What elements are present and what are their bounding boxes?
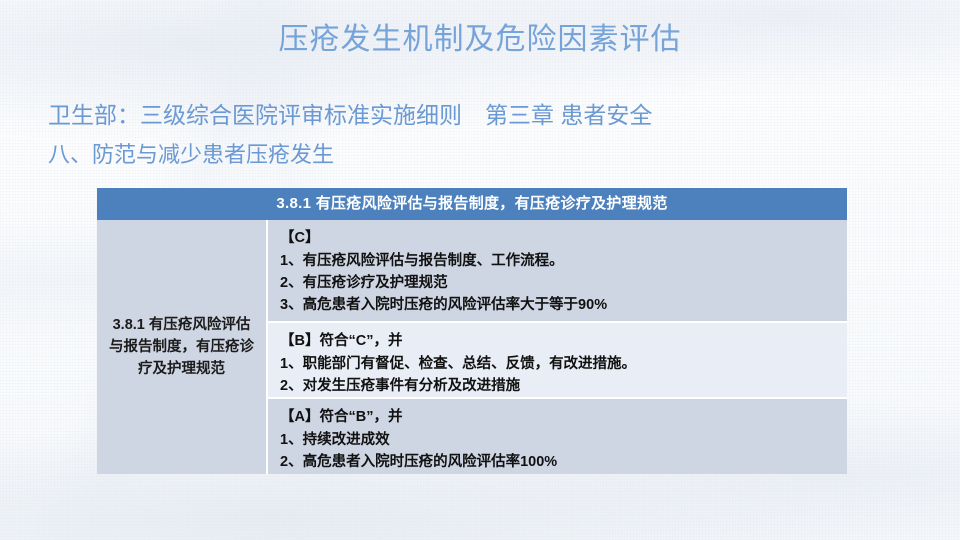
page-title: 压疮发生机制及危险因素评估 [0,20,960,60]
level-c-item-1: 1、有压疮风险评估与报告制度、工作流程。 [280,250,847,272]
slide-canvas: 压疮发生机制及危险因素评估 卫生部：三级综合医院评审标准实施细则 第三章 患者安… [0,0,960,540]
table-body: 3.8.1 有压疮风险评估与报告制度，有压疮诊疗及护理规范 【C】 1、有压疮风… [97,220,847,474]
level-a-heading: 【A】符合“B”，并 [280,405,847,429]
level-b-item-2: 2、对发生压疮事件有分析及改进措施 [280,375,847,397]
level-b-heading: 【B】符合“C”，并 [280,329,847,353]
criteria-levels: 【C】 1、有压疮风险评估与报告制度、工作流程。 2、有压疮诊疗及护理规范 3、… [268,220,847,474]
level-c-item-3: 3、高危患者入院时压疮的风险评估率大于等于90% [280,294,847,316]
level-c-heading: 【C】 [280,226,847,250]
level-block-c: 【C】 1、有压疮风险评估与报告制度、工作流程。 2、有压疮诊疗及护理规范 3、… [268,220,847,321]
criteria-table: 3.8.1 有压疮风险评估与报告制度，有压疮诊疗及护理规范 3.8.1 有压疮风… [97,188,847,474]
subtitle-section-line: 八、防范与减少患者压疮发生 [48,139,334,171]
table-row-label-text: 3.8.1 有压疮风险评估与报告制度，有压疮诊疗及护理规范 [106,314,257,380]
level-c-item-2: 2、有压疮诊疗及护理规范 [280,272,847,294]
level-b-item-1: 1、职能部门有督促、检查、总结、反馈，有改进措施。 [280,353,847,375]
subtitle-source-line: 卫生部：三级综合医院评审标准实施细则 第三章 患者安全 [48,99,652,131]
level-block-a: 【A】符合“B”，并 1、持续改进成效 2、高危患者入院时压疮的风险评估率100… [268,397,847,474]
level-block-b: 【B】符合“C”，并 1、职能部门有督促、检查、总结、反馈，有改进措施。 2、对… [268,321,847,397]
table-row-label-cell: 3.8.1 有压疮风险评估与报告制度，有压疮诊疗及护理规范 [97,220,268,474]
level-a-item-2: 2、高危患者入院时压疮的风险评估率100% [280,451,847,473]
table-header: 3.8.1 有压疮风险评估与报告制度，有压疮诊疗及护理规范 [97,188,847,220]
level-a-item-1: 1、持续改进成效 [280,429,847,451]
